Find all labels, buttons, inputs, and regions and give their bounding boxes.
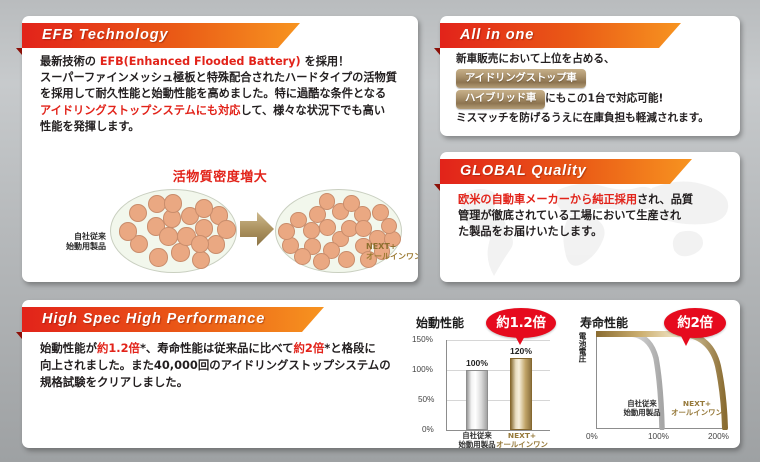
hs-text-line-2: 向上されました。また40,000回のアイドリングストップシステムの (40, 357, 400, 374)
ribbon-all-in-one: All in one (434, 23, 684, 48)
gq-text-seg: 欧米の自動車メーカーから純正採用 (458, 193, 637, 206)
chart1-ytick-0: 0% (422, 425, 434, 434)
chart1-gridline-100 (446, 370, 550, 371)
chart1-bar-conventional (466, 370, 488, 430)
badge-idling-stop: アイドリングストップ車 (456, 69, 586, 88)
chart2-series-label-conventional: 自社従来 始動用製品 (616, 400, 668, 418)
active-material-particle (313, 253, 330, 270)
active-material-particle (171, 243, 189, 261)
chart1-gridline-50 (446, 400, 550, 401)
efb-text-seg: を採用して耐久性能と始動性能を高めました。特に過酷な条件となる (40, 87, 386, 100)
hs-text-seg: 、寿命性能は従来品に比べて (146, 341, 294, 355)
hs-text-seg: 向上されました。また40,000回のアイドリングストップシステムの (40, 358, 391, 372)
ribbon-high-spec-label: High Spec High Performance (42, 307, 265, 332)
active-material-particle (343, 195, 360, 212)
ribbon-efb-technology: EFB Technology (16, 23, 308, 48)
ribbon-efb-label: EFB Technology (42, 23, 168, 48)
panel-efb-technology: 最新技術の EFB(Enhanced Flooded Battery) を採用！… (22, 16, 418, 282)
particle-density-diagram: 自社従来 始動用製品 NEXT+ オールインワン (32, 184, 408, 276)
efb-text-line-5: 性能を発揮します。 (40, 119, 406, 135)
active-material-particle (159, 227, 177, 245)
active-material-particle (119, 222, 137, 240)
chart2-xtick-0: 0% (586, 432, 598, 441)
global-quality-paragraph: 欧米の自動車メーカーから純正採用され、品質管理が徹底されている工場において生産さ… (458, 192, 730, 241)
aio-line-3-tail: にもこの1台で対応可能! (545, 92, 663, 104)
gq-text-line-3: た製品をお届けいたします。 (458, 224, 730, 240)
aio-badge-row-2: ハイブリッド車にもこの1台で対応可能! (456, 90, 734, 109)
hs-text-line-1: 始動性能が約1.2倍*、寿命性能は従来品に比べて約2倍*と格段に (40, 340, 400, 357)
chart1-ytick-150: 150% (412, 335, 433, 344)
ellipse-conventional (110, 189, 237, 273)
efb-text-seg: 性能を発揮します。 (40, 120, 140, 133)
hs-text-seg: 始動性能が (40, 341, 97, 355)
active-material-particle (338, 251, 355, 268)
diagram-label-conventional: 自社従来 始動用製品 (32, 232, 106, 252)
chart1-y-axis (446, 340, 447, 431)
hs-text-line-3: 規格試験をクリアしました。 (40, 374, 400, 391)
chart1-ytick-100: 100% (412, 365, 433, 374)
chart-start-performance: 始動性能 150% 100% 50% 0% 100% 120% 自社従来 (410, 308, 570, 448)
high-spec-paragraph: 始動性能が約1.2倍*、寿命性能は従来品に比べて約2倍*と格段に向上されました。… (40, 340, 400, 391)
active-material-particle (191, 235, 209, 253)
chart2-y-axis-label: 電池電圧 (577, 332, 588, 378)
chart2-xtick-200: 200% (708, 432, 729, 441)
chart2-xtick-100: 100% (648, 432, 669, 441)
active-material-particle (129, 204, 147, 222)
efb-paragraph: 最新技術の EFB(Enhanced Flooded Battery) を採用！… (40, 54, 406, 135)
gq-text-seg: 管理が徹底されている工場において生産され (458, 209, 681, 222)
efb-text-line-2: スーパーファインメッシュ極板と特殊配合されたハードタイプの活物質 (40, 70, 406, 86)
chart1-title: 始動性能 (416, 314, 464, 331)
hs-text-seg: と格段に (330, 341, 376, 355)
efb-text-seg: アイドリングストップシステムにも対応 (40, 104, 240, 117)
ribbon-high-spec: High Spec High Performance (16, 307, 326, 332)
chart2-callout-label: 約2倍 (664, 308, 726, 338)
panel-all-in-one: 新車販売において上位を占める、 アイドリングストップ車 ハイブリッド車にもこの1… (440, 16, 740, 136)
active-material-particle (303, 222, 320, 239)
chart-life-performance: 寿命性能 電池電圧 (574, 308, 740, 448)
ribbon-all-in-one-label: All in one (460, 23, 534, 48)
chart1-value-conventional: 100% (455, 358, 499, 368)
efb-text-seg: して、様々な状況下でも高い (240, 104, 385, 117)
badge-hybrid: ハイブリッド車 (456, 90, 545, 109)
efb-text-line-4: アイドリングストップシステムにも対応して、様々な状況下でも高い (40, 103, 406, 119)
chart1-callout-label: 約1.2倍 (486, 308, 556, 338)
active-material-particle (149, 248, 167, 266)
active-material-particle (309, 206, 326, 223)
panel-global-quality: 欧米の自動車メーカーから純正採用され、品質管理が徹底されている工場において生産さ… (440, 152, 740, 282)
ribbon-global-quality: GLOBAL Quality (434, 159, 694, 184)
hs-text-seg: 規格試験をクリアしました。 (40, 375, 188, 389)
aio-line-4: ミスマッチを防げるうえに在庫負担も軽減されます。 (456, 111, 734, 126)
efb-text-seg: スーパーファインメッシュ極板と特殊配合されたハードタイプの活物質 (40, 71, 397, 84)
density-heading: 活物質密度増大 (22, 166, 418, 185)
chart1-bar-nextplus (510, 358, 532, 430)
chart2-series-label-nextplus: NEXT+ オールインワン (668, 400, 726, 418)
chart1-xlabel-nextplus: NEXT+ オールインワン (492, 432, 552, 448)
panel-high-spec: 始動性能が約1.2倍*、寿命性能は従来品に比べて約2倍*と格段に向上されました。… (22, 300, 740, 448)
ribbon-global-quality-label: GLOBAL Quality (460, 159, 587, 184)
efb-text-line-3: を採用して耐久性能と始動性能を高めました。特に過酷な条件となる (40, 86, 406, 102)
gq-text-line-1: 欧米の自動車メーカーから純正採用され、品質 (458, 192, 730, 208)
gq-text-line-2: 管理が徹底されている工場において生産され (458, 208, 730, 224)
active-material-particle (164, 194, 182, 212)
gq-text-seg: され、品質 (637, 193, 693, 206)
all-in-one-paragraph: 新車販売において上位を占める、 アイドリングストップ車 ハイブリッド車にもこの1… (456, 52, 734, 128)
active-material-particle (355, 220, 372, 237)
active-material-particle (217, 220, 235, 238)
active-material-particle (192, 251, 210, 269)
poster-canvas: 最新技術の EFB(Enhanced Flooded Battery) を採用！… (0, 0, 760, 462)
hs-text-seg: 約1.2倍 (97, 341, 140, 355)
transition-arrow-icon (240, 211, 274, 247)
chart2-callout-bubble: 約2倍 (664, 308, 726, 348)
active-material-particle (294, 248, 311, 265)
gq-text-seg: た製品をお届けいたします。 (458, 225, 602, 238)
chart1-callout-bubble: 約1.2倍 (486, 308, 556, 348)
active-material-particle (195, 199, 213, 217)
hs-text-seg: 約2倍 (294, 341, 325, 355)
diagram-label-nextplus: NEXT+ オールインワン (366, 242, 418, 262)
chart1-ytick-50: 50% (418, 395, 434, 404)
aio-badge-row-1: アイドリングストップ車 (456, 69, 734, 88)
